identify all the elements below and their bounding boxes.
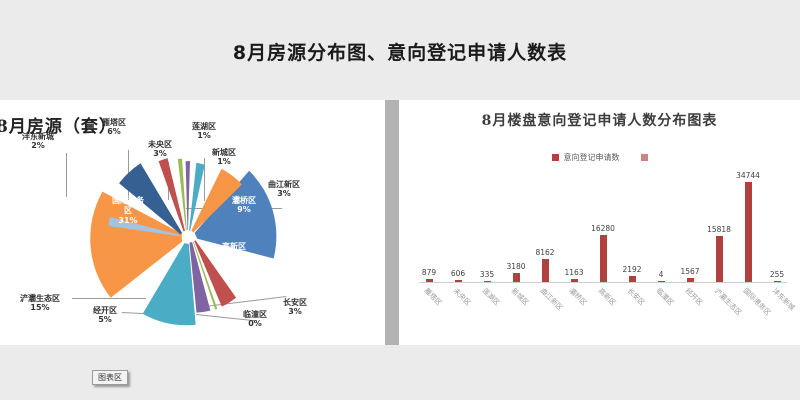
bar-value-label: 335 xyxy=(480,270,494,279)
x-label-slot: 灞桥区 xyxy=(564,284,584,344)
x-axis-label: 新城区 xyxy=(509,286,531,308)
pie-label-pct: 15% xyxy=(20,303,60,312)
x-axis-label: 曲江新区 xyxy=(538,286,565,313)
leader-line-fengdong xyxy=(66,153,67,197)
x-axis-label: 未央区 xyxy=(451,286,473,308)
pie-label-pct: 21% xyxy=(222,251,246,260)
pie-label-lianhu: 莲湖区 1% xyxy=(192,122,216,140)
bar-chart-plot: 8796063353180816211631628021924156715818… xyxy=(419,170,787,282)
pie-label-name: 灞桥区 xyxy=(232,196,256,205)
bar-chart-legend: 意向登记申请数 xyxy=(399,152,800,163)
bar-value-label: 16280 xyxy=(591,224,615,233)
x-axis-label: 雁塔区 xyxy=(422,286,444,308)
pie-label-weiyang: 未央区 3% xyxy=(148,140,172,158)
bar-rect xyxy=(716,236,723,282)
pie-label-chanbashengtaiqu: 浐灞生态区 15% xyxy=(20,294,60,312)
pie-label-pct: 31% xyxy=(111,216,145,226)
x-label-slot: 高新区 xyxy=(593,284,613,344)
bar-value-label: 3180 xyxy=(506,262,525,271)
x-label-slot: 未央区 xyxy=(448,284,468,344)
bar-column: 1163 xyxy=(564,170,584,282)
pie-label-name: 莲湖区 xyxy=(192,122,216,131)
pie-label-pct: 2% xyxy=(22,141,54,150)
pie-label-pct: 5% xyxy=(93,315,117,324)
left-chart-panel: 8月房源（套） xyxy=(0,100,385,345)
bar-rect xyxy=(745,182,752,282)
bar-rect xyxy=(513,273,520,282)
bar-chart-title: 8月楼盘意向登记申请人数分布图表 xyxy=(399,110,800,130)
x-axis-label: 经开区 xyxy=(683,286,705,308)
pie-label-name: 曲江新区 xyxy=(268,180,300,189)
bar-series: 8796063353180816211631628021924156715818… xyxy=(419,170,787,282)
pie-label-fengdongxincheng: 沣东新城 2% xyxy=(22,132,54,150)
x-label-slot: 雁塔区 xyxy=(419,284,439,344)
pie-label-qujiangxinqu: 曲江新区 3% xyxy=(268,180,300,198)
pie-label-yanta: 雁塔区 6% xyxy=(102,118,126,136)
bar-value-label: 2192 xyxy=(622,265,641,274)
bar-column: 1567 xyxy=(680,170,700,282)
pie-label-xincheng: 新城区 1% xyxy=(212,148,236,166)
x-axis-label: 沣东新城 xyxy=(770,286,797,313)
bar-column: 34744 xyxy=(738,170,758,282)
legend-label: 意向登记申请数 xyxy=(564,152,620,163)
bar-value-label: 4 xyxy=(659,270,664,279)
pie-chart-graphic xyxy=(88,142,288,327)
pie-label-pct: 6% xyxy=(102,127,126,136)
bar-column: 8162 xyxy=(535,170,555,282)
x-label-slot: 国际港务区 xyxy=(738,284,758,344)
bar-column: 4 xyxy=(651,170,671,282)
x-axis-label: 临潼区 xyxy=(654,286,676,308)
bar-value-label: 606 xyxy=(451,269,465,278)
pie-label-name: 浐灞生态区 xyxy=(20,294,60,303)
pie-label-pct: 3% xyxy=(148,149,172,158)
pie-label-name: 未央区 xyxy=(148,140,172,149)
pie-label-name: 新城区 xyxy=(212,148,236,157)
legend-swatch-icon xyxy=(552,154,559,161)
bar-column: 879 xyxy=(419,170,439,282)
x-label-slot: 莲湖区 xyxy=(477,284,497,344)
pie-label-pct: 3% xyxy=(283,307,307,316)
pie-label-pct: 9% xyxy=(232,205,256,214)
right-chart-panel: 8月楼盘意向登记申请人数分布图表 意向登记申请数 879606335318081… xyxy=(399,100,800,345)
x-axis-label: 长安区 xyxy=(625,286,647,308)
x-label-slot: 新城区 xyxy=(506,284,526,344)
bar-rect xyxy=(600,235,607,282)
pie-label-name: 高新区 xyxy=(222,242,246,251)
x-label-slot: 浐灞生态区 xyxy=(709,284,729,344)
x-label-slot: 长安区 xyxy=(622,284,642,344)
panel-divider xyxy=(385,100,399,345)
bar-value-label: 15818 xyxy=(707,225,731,234)
screenshot-root: 8月房源分布图、意向登记申请人数表 8月房源（套） xyxy=(0,0,800,400)
x-label-slot: 经开区 xyxy=(680,284,700,344)
x-label-slot: 沣东新城 xyxy=(767,284,787,344)
bar-value-label: 255 xyxy=(770,270,784,279)
pie-label-pct: 1% xyxy=(212,157,236,166)
bar-rect xyxy=(542,259,549,282)
pie-label-name: 国际港务区 xyxy=(111,196,145,216)
bar-column: 3180 xyxy=(506,170,526,282)
pie-chart-title: 8月房源（套） xyxy=(0,112,117,137)
page-title: 8月房源分布图、意向登记申请人数表 xyxy=(0,38,800,65)
x-axis-label: 灞桥区 xyxy=(567,286,589,308)
x-label-slot: 曲江新区 xyxy=(535,284,555,344)
pie-label-name: 长安区 xyxy=(283,298,307,307)
pie-label-guojigangwuqu: 国际港务区 31% xyxy=(111,196,145,226)
pie-label-name: 雁塔区 xyxy=(102,118,126,127)
x-axis-label: 高新区 xyxy=(596,286,618,308)
pie-label-pct: 1% xyxy=(192,131,216,140)
bar-value-label: 1163 xyxy=(564,268,583,277)
bar-value-label: 34744 xyxy=(736,171,760,180)
bar-column: 2192 xyxy=(622,170,642,282)
bar-column: 16280 xyxy=(593,170,613,282)
bar-chart-axis-line xyxy=(419,282,787,283)
legend-swatch-secondary-icon xyxy=(641,154,648,161)
pie-label-name: 经开区 xyxy=(93,306,117,315)
pie-label-gaoxin: 高新区 21% xyxy=(222,242,246,260)
bar-column: 15818 xyxy=(709,170,729,282)
bar-column: 606 xyxy=(448,170,468,282)
pie-label-lintong: 临潼区 0% xyxy=(243,310,267,328)
pie-label-name: 沣东新城 xyxy=(22,132,54,141)
bar-column: 335 xyxy=(477,170,497,282)
bar-chart-x-labels: 雁塔区未央区莲湖区新城区曲江新区灞桥区高新区长安区临潼区经开区浐灞生态区国际港务… xyxy=(419,284,787,344)
x-label-slot: 临潼区 xyxy=(651,284,671,344)
pie-label-pct: 3% xyxy=(268,189,300,198)
pie-label-baqiao: 灞桥区 9% xyxy=(232,196,256,214)
pie-label-pct: 0% xyxy=(243,319,267,328)
bar-value-label: 879 xyxy=(422,268,436,277)
bar-column: 255 xyxy=(767,170,787,282)
x-axis-label: 莲湖区 xyxy=(480,286,502,308)
bar-value-label: 1567 xyxy=(680,267,699,276)
bar-value-label: 8162 xyxy=(535,248,554,257)
pie-label-jingkai: 经开区 5% xyxy=(93,306,117,324)
pie-label-changan: 长安区 3% xyxy=(283,298,307,316)
pie-label-name: 临潼区 xyxy=(243,310,267,319)
chart-area-tooltip: 图表区 xyxy=(92,370,128,385)
